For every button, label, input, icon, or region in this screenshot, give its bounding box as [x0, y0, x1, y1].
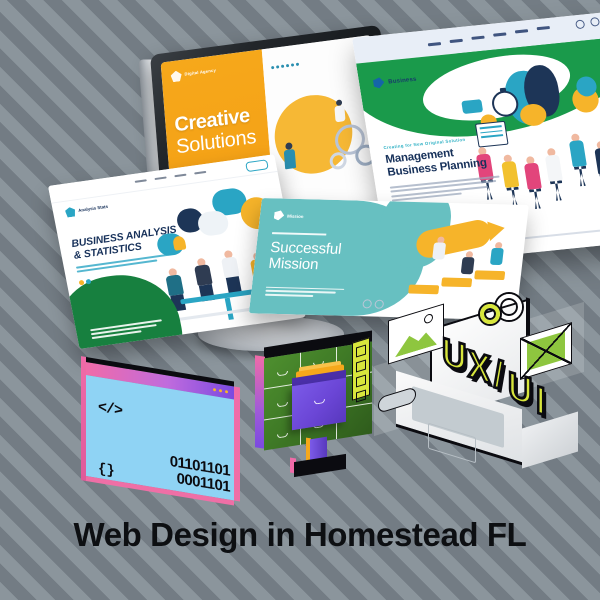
arrow-logo-icon [274, 210, 285, 220]
user-icon [590, 17, 600, 27]
drawer-handle[interactable] [277, 402, 288, 408]
tool-icon[interactable] [356, 359, 366, 372]
hero-copy: Creating for New Original Solution Manag… [383, 134, 502, 204]
uxui-letter-u1: U [442, 332, 465, 378]
person-figure [544, 148, 566, 202]
person-figure [461, 251, 476, 274]
creative-logo-label: Digital Agency [184, 69, 216, 78]
search-icon [575, 19, 585, 29]
nav-cta-button[interactable] [245, 159, 269, 172]
uxui-3d-text: U X / U I [442, 332, 562, 422]
mission-logo[interactable]: Mission [274, 210, 305, 221]
code-tag-icon: </> [98, 399, 122, 420]
analysis-logo[interactable]: Analysis Stats [64, 202, 109, 218]
code-brace-icon: {} [98, 461, 115, 480]
pencil-icon [415, 217, 493, 260]
creative-headline: Creative Solutions [174, 105, 260, 157]
tool-icon[interactable] [356, 374, 366, 387]
person-figure [490, 242, 505, 265]
successful-mission-mockup[interactable]: Mission Successful Mission [249, 198, 529, 320]
diamond-logo-icon [170, 70, 182, 82]
gear-icon [329, 151, 347, 170]
creative-logo: Digital Agency [170, 61, 254, 83]
code-window-mockup[interactable]: </> {} 01101101 0001101 [86, 362, 234, 480]
open-drawer[interactable] [292, 378, 346, 431]
gear-icon [480, 304, 500, 324]
step-shape [474, 270, 505, 280]
dot-row-decor [271, 63, 299, 70]
cabinet-base [294, 454, 346, 477]
drawer-handle[interactable] [277, 371, 288, 377]
mission-headline: Successful Mission [268, 240, 382, 274]
poster-canvas: Digital Agency Creative Solutions Digita… [0, 0, 600, 600]
binary-text: 01101101 0001101 [170, 453, 230, 495]
toolbar-panel[interactable] [352, 337, 370, 401]
drawer-handle[interactable] [277, 433, 288, 439]
step-shape [441, 277, 472, 287]
mission-frame: Mission Successful Mission [249, 198, 529, 320]
star-logo-icon [64, 206, 76, 217]
person-figure [568, 133, 590, 187]
mission-headline-line2: Mission [268, 255, 320, 273]
window-controls[interactable] [213, 387, 228, 393]
person-figure [432, 236, 447, 259]
step-shape [408, 285, 439, 295]
code-window-isometric: </> {} 01101101 0001101 [86, 362, 234, 505]
uxui-letter-x: X [468, 344, 489, 389]
analysis-logo-label: Analysis Stats [78, 204, 109, 213]
mission-logo-label: Mission [287, 213, 304, 218]
person-figure [523, 156, 545, 210]
gear-icon [496, 294, 522, 320]
uxui-letter-i: I [536, 380, 543, 421]
hero-headline: Management Business Planning [385, 143, 499, 180]
uxui-letter-slash: / [494, 354, 501, 395]
uxui-letter-u2: U [508, 366, 531, 412]
mission-paragraph [265, 286, 345, 299]
drawer-handle[interactable] [314, 399, 325, 405]
arrow-logo-icon [373, 77, 386, 89]
laptop-uxui-mockup[interactable]: U X / U I [384, 306, 584, 486]
window-right-edge [234, 387, 240, 502]
page-title: Web Design in Homestead FL [0, 516, 600, 554]
site-logo-label: Business [388, 76, 417, 85]
pagination-dots[interactable] [362, 299, 384, 308]
speech-bubble-icon [461, 99, 483, 114]
person-figure [500, 154, 522, 208]
person-figure [220, 250, 243, 294]
tool-icon[interactable] [356, 344, 366, 357]
person-figure [593, 141, 600, 195]
